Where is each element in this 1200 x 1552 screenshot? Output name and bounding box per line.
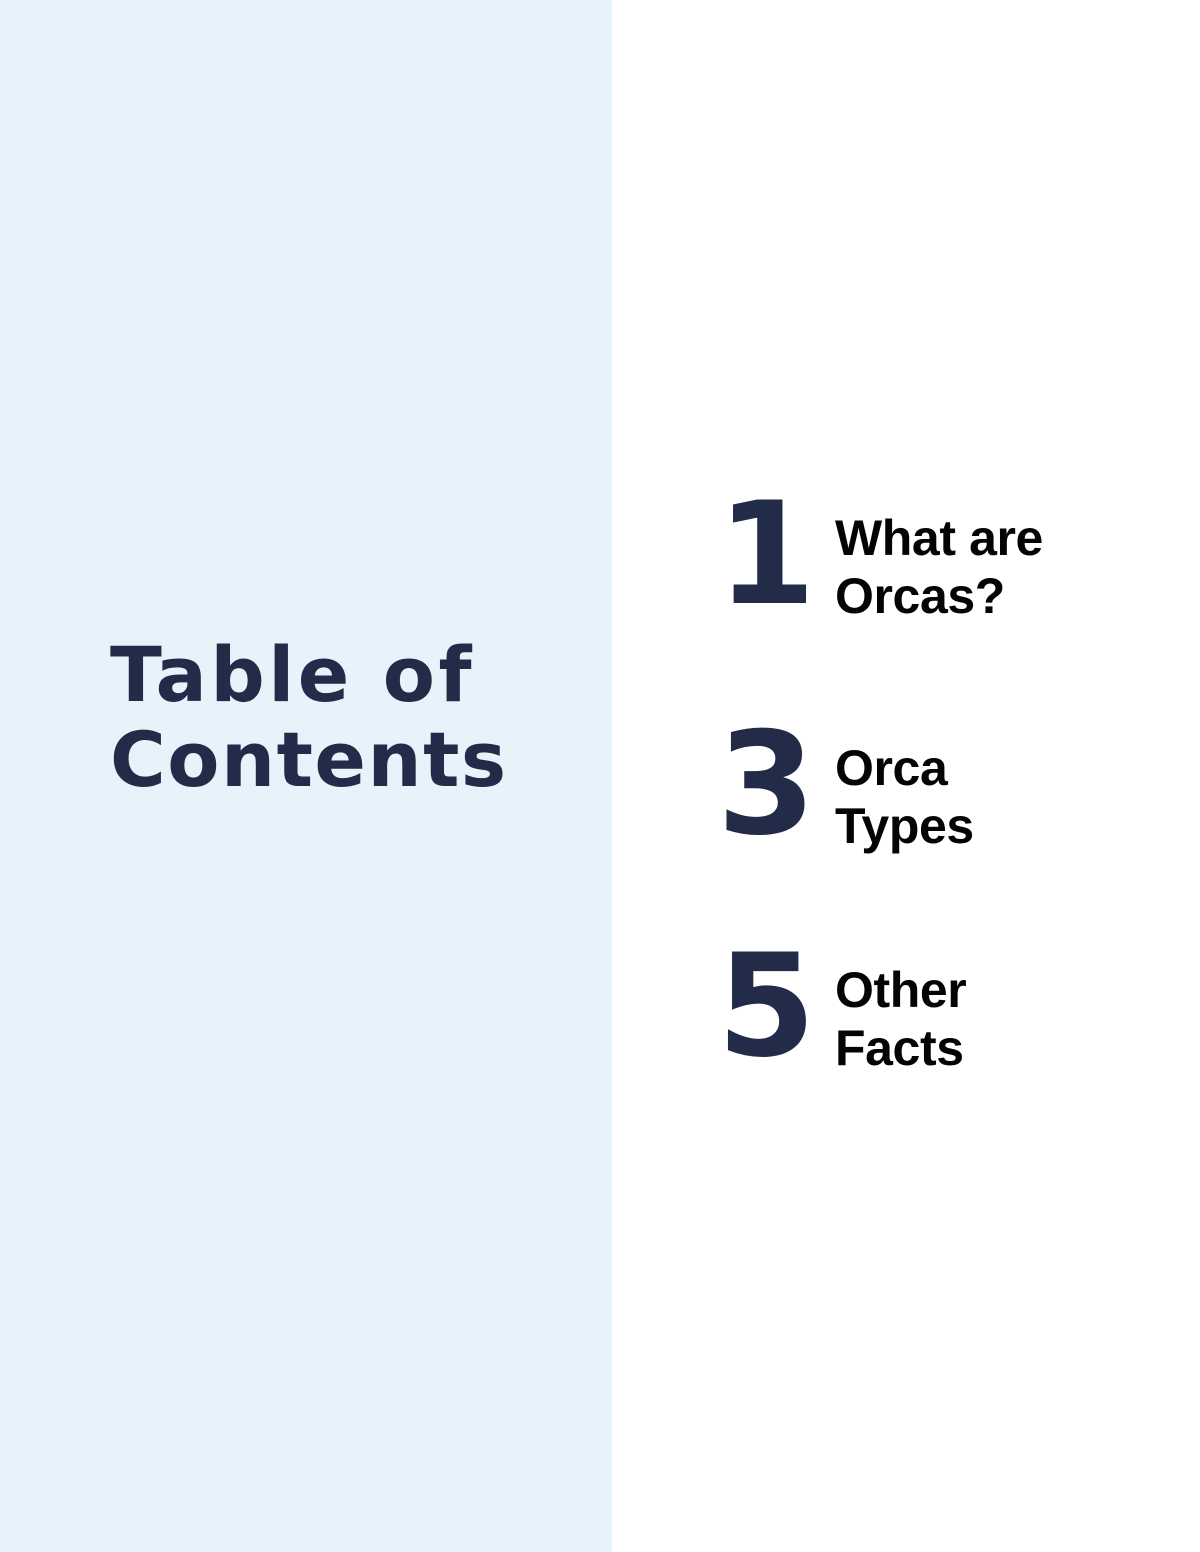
toc-entry-label: What are Orcas? <box>835 495 1187 625</box>
toc-entry-label: Orca Types <box>835 725 1187 855</box>
page-title: Table of Contents <box>110 632 580 802</box>
toc-entry-label-line-1: Orca <box>835 739 1187 797</box>
page-title-line-1: Table of <box>110 632 580 717</box>
contents-panel: 1 What are Orcas? 3 Orca Types 5 Other F… <box>612 0 1200 1552</box>
page-title-line-2: Contents <box>110 717 580 802</box>
toc-entry-number: 1 <box>717 497 835 613</box>
toc-entry-3[interactable]: 5 Other Facts <box>717 947 1187 1077</box>
toc-entry-label: Other Facts <box>835 947 1187 1077</box>
toc-entry-label-line-2: Facts <box>835 1019 1187 1077</box>
toc-entry-2[interactable]: 3 Orca Types <box>717 725 1187 855</box>
toc-entry-label-line-1: Other <box>835 961 1187 1019</box>
title-panel: Table of Contents <box>0 0 612 1552</box>
toc-entry-label-line-2: Types <box>835 797 1187 855</box>
table-of-contents-list: 1 What are Orcas? 3 Orca Types 5 Other F… <box>717 495 1187 1077</box>
table-of-contents-slide: Table of Contents 1 What are Orcas? 3 Or… <box>0 0 1200 1552</box>
toc-entry-number: 3 <box>717 727 835 843</box>
toc-entry-label-line-2: Orcas? <box>835 567 1187 625</box>
toc-entry-label-line-1: What are <box>835 509 1187 567</box>
toc-entry-number: 5 <box>717 949 835 1065</box>
toc-entry-1[interactable]: 1 What are Orcas? <box>717 495 1187 625</box>
